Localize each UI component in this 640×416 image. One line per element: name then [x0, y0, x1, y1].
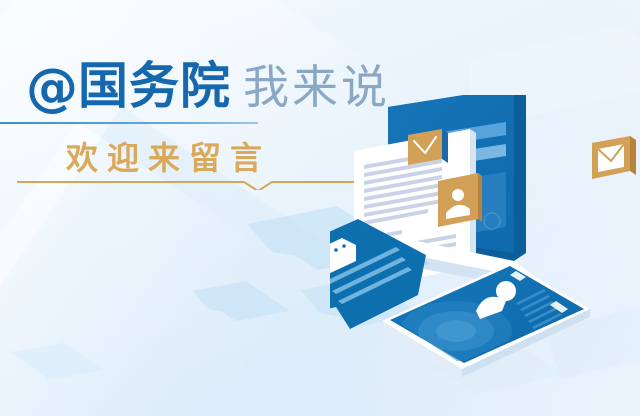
headline-primary: 国务院 — [78, 57, 231, 115]
illustration-isometric-devices — [330, 95, 640, 416]
ghost-bubble-2 — [192, 281, 290, 321]
avatar-head — [452, 189, 464, 201]
banner-root: @国务院我来说 欢迎来留言 — [0, 0, 640, 416]
headline-subtitle: 欢迎来留言 — [66, 133, 271, 179]
avatar-card — [438, 173, 482, 227]
ghost-bubble-5 — [10, 343, 104, 380]
envelope-right — [592, 136, 636, 179]
at-symbol: @ — [26, 58, 78, 118]
